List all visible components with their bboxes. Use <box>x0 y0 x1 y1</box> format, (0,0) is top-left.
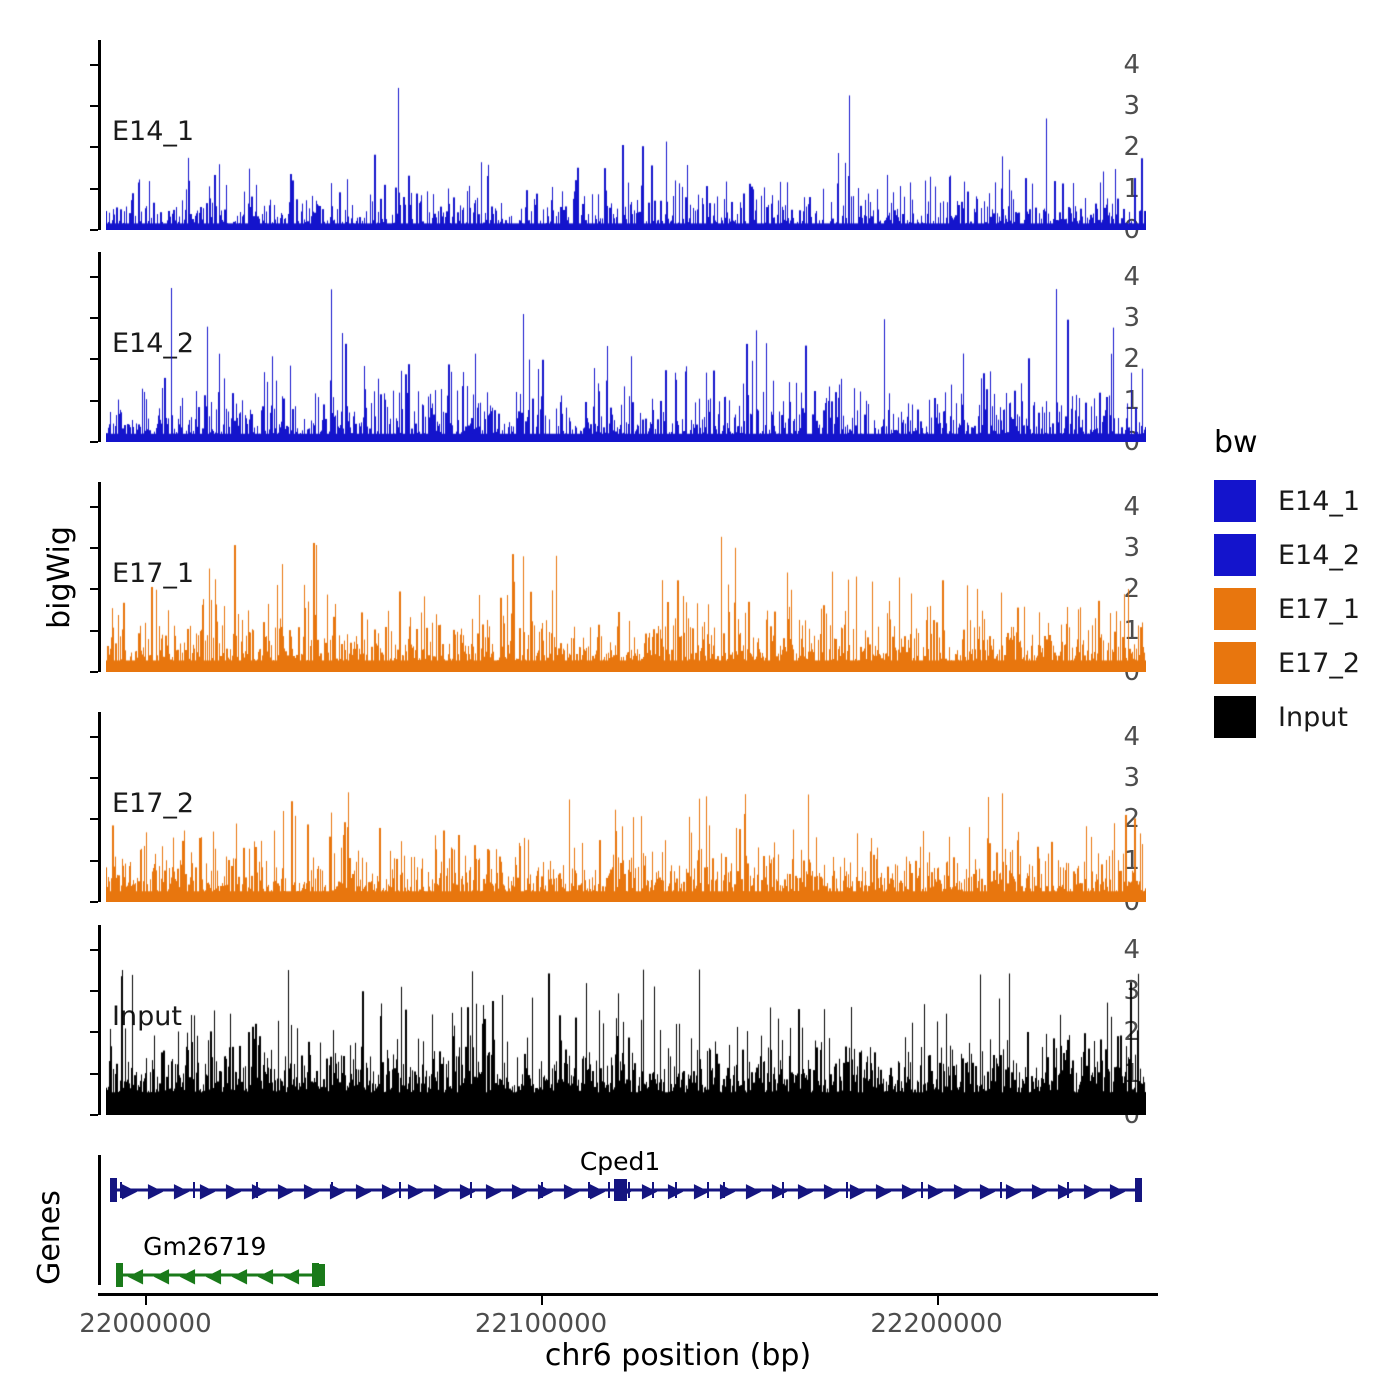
gene-strand-arrow-icon: ◀ <box>128 1265 143 1285</box>
x-tick-label: 22000000 <box>79 1309 211 1339</box>
y-tick <box>90 736 98 738</box>
gene-strand-arrow-icon: ▶ <box>824 1180 839 1200</box>
gene-strand-arrow-icon: ▶ <box>460 1180 475 1200</box>
gene-feature-tick <box>921 1182 923 1198</box>
gene-strand-arrow-icon: ▶ <box>200 1180 215 1200</box>
legend-item-label: Input <box>1278 702 1348 733</box>
legend: bw E14_1E14_2E17_1E17_2Input <box>1210 425 1390 715</box>
legend-color-swatch <box>1214 642 1256 684</box>
gene-feature-tick <box>588 1182 590 1198</box>
x-tick <box>937 1296 939 1305</box>
y-tick <box>90 1073 98 1075</box>
y-tick <box>90 949 98 951</box>
gene-feature-tick <box>675 1182 677 1198</box>
y-tick <box>90 588 98 590</box>
track-panel-e17_2: 01234E17_2 <box>98 712 1158 902</box>
legend-item-input[interactable]: Input <box>1214 696 1348 738</box>
y-axis-line <box>98 925 101 1115</box>
gene-strand-arrow-icon: ▶ <box>1032 1180 1047 1200</box>
y-tick <box>90 441 98 443</box>
y-tick <box>90 671 98 673</box>
legend-color-swatch <box>1214 696 1256 738</box>
gene-strand-arrow-icon: ▶ <box>512 1180 527 1200</box>
track-signal-e14_1 <box>106 40 1146 230</box>
y-tick <box>90 317 98 319</box>
gene-strand-arrow-icon: ▶ <box>590 1180 605 1200</box>
y-axis-line <box>98 252 101 442</box>
gene-feature-tick <box>193 1182 195 1198</box>
gene-feature-tick <box>652 1182 654 1198</box>
gene-strand-arrow-icon: ▶ <box>564 1180 579 1200</box>
y-axis-line <box>98 712 101 902</box>
gene-strand-arrow-icon: ▶ <box>486 1180 501 1200</box>
y-tick <box>90 229 98 231</box>
y-tick <box>90 777 98 779</box>
x-axis-line <box>98 1293 1158 1296</box>
legend-item-label: E14_2 <box>1278 540 1360 571</box>
gene-strand-arrow-icon: ▶ <box>1110 1180 1125 1200</box>
gene-feature-tick <box>782 1182 784 1198</box>
gene-feature-tick <box>846 1182 848 1198</box>
gene-strand-arrow-icon: ▶ <box>356 1180 371 1200</box>
gene-feature-tick <box>1000 1182 1002 1198</box>
legend-color-swatch <box>1214 588 1256 630</box>
gene-strand-arrow-icon: ▶ <box>278 1180 293 1200</box>
y-axis-line <box>98 482 101 672</box>
y-tick <box>90 105 98 107</box>
gene-strand-arrow-icon: ▶ <box>876 1180 891 1200</box>
gene-feature-tick <box>608 1182 610 1198</box>
gene-strand-arrow-icon: ▶ <box>1006 1180 1021 1200</box>
gene-strand-arrow-icon: ▶ <box>434 1180 449 1200</box>
y-tick <box>90 630 98 632</box>
gene-feature-tick <box>723 1182 725 1198</box>
gene-label-gm26719: Gm26719 <box>143 1232 266 1261</box>
x-tick <box>541 1296 543 1305</box>
y-tick <box>90 64 98 66</box>
y-tick <box>90 990 98 992</box>
x-tick <box>145 1296 147 1305</box>
track-panel-e14_2: 01234E14_2 <box>98 252 1158 442</box>
y-tick <box>90 276 98 278</box>
gene-feature-tick <box>120 1182 122 1198</box>
gene-strand-arrow-icon: ▶ <box>1084 1180 1099 1200</box>
gene-strand-arrow-icon: ▶ <box>148 1180 163 1200</box>
gene-exon-block <box>316 1264 325 1286</box>
y-tick <box>90 146 98 148</box>
y-tick <box>90 1031 98 1033</box>
gene-feature-tick <box>1067 1182 1069 1198</box>
genes-panel: ▶▶▶▶▶▶▶▶▶▶▶▶▶▶▶▶▶▶▶▶▶▶▶▶▶▶▶▶▶▶▶▶▶▶▶▶▶▶▶C… <box>98 1155 1158 1285</box>
x-axis-title: chr6 position (bp) <box>398 1338 958 1373</box>
legend-item-label: E17_2 <box>1278 648 1360 679</box>
gene-start-cap <box>110 1178 117 1202</box>
y-tick <box>90 860 98 862</box>
legend-item-e17_2[interactable]: E17_2 <box>1214 642 1360 684</box>
x-tick-label: 22200000 <box>870 1309 1002 1339</box>
gene-feature-tick <box>399 1182 401 1198</box>
gene-feature-tick <box>331 1182 333 1198</box>
gene-strand-arrow-icon: ▶ <box>746 1180 761 1200</box>
y-axis-title: bigWig <box>42 526 77 629</box>
genes-axis-title: Genes <box>32 1190 67 1285</box>
legend-item-e14_2[interactable]: E14_2 <box>1214 534 1360 576</box>
gene-row-cped1[interactable]: ▶▶▶▶▶▶▶▶▶▶▶▶▶▶▶▶▶▶▶▶▶▶▶▶▶▶▶▶▶▶▶▶▶▶▶▶▶▶▶ <box>110 1175 1142 1205</box>
gene-strand-arrow-icon: ▶ <box>980 1180 995 1200</box>
legend-item-label: E14_1 <box>1278 486 1360 517</box>
y-tick <box>90 506 98 508</box>
y-tick <box>90 547 98 549</box>
track-panel-e17_1: 01234E17_1 <box>98 482 1158 672</box>
gene-strand-arrow-icon: ▶ <box>902 1180 917 1200</box>
gene-strand-arrow-icon: ▶ <box>226 1180 241 1200</box>
gene-feature-tick <box>256 1182 258 1198</box>
legend-item-label: E17_1 <box>1278 594 1360 625</box>
gene-strand-arrow-icon: ▶ <box>122 1180 137 1200</box>
gene-strand-arrow-icon: ▶ <box>1058 1180 1073 1200</box>
legend-color-swatch <box>1214 480 1256 522</box>
gene-strand-arrow-icon: ▶ <box>954 1180 969 1200</box>
gene-strand-arrow-icon: ▶ <box>382 1180 397 1200</box>
gene-feature-tick <box>470 1182 472 1198</box>
gene-strand-arrow-icon: ◀ <box>232 1265 247 1285</box>
y-tick <box>90 400 98 402</box>
gene-strand-arrow-icon: ◀ <box>206 1265 221 1285</box>
gene-feature-tick <box>541 1182 543 1198</box>
gene-strand-arrow-icon: ▶ <box>174 1180 189 1200</box>
x-tick-label: 22100000 <box>475 1309 607 1339</box>
track-signal-e17_2 <box>106 712 1146 902</box>
gene-row-gm26719[interactable]: ◀◀◀◀◀◀◀ <box>116 1260 320 1290</box>
gene-feature-tick <box>628 1182 630 1198</box>
gene-strand-arrow-icon: ▶ <box>850 1180 865 1200</box>
legend-color-swatch <box>1214 534 1256 576</box>
gene-strand-arrow-icon: ▶ <box>304 1180 319 1200</box>
gene-strand-arrow-icon: ◀ <box>154 1265 169 1285</box>
gene-strand-arrow-icon: ◀ <box>180 1265 195 1285</box>
gene-strand-arrow-icon: ▶ <box>798 1180 813 1200</box>
gene-strand-arrow-icon: ▶ <box>928 1180 943 1200</box>
gene-start-cap <box>116 1263 123 1287</box>
gene-exon-block <box>618 1179 627 1201</box>
gene-strand-arrow-icon: ◀ <box>258 1265 273 1285</box>
legend-item-e17_1[interactable]: E17_1 <box>1214 588 1360 630</box>
gene-label-cped1: Cped1 <box>580 1147 660 1176</box>
y-tick <box>90 818 98 820</box>
track-panel-e14_1: 01234E14_1 <box>98 40 1158 230</box>
y-tick <box>90 901 98 903</box>
y-tick <box>90 358 98 360</box>
gene-strand-arrow-icon: ▶ <box>772 1180 787 1200</box>
y-axis-line <box>98 40 101 230</box>
y-tick <box>90 1114 98 1116</box>
gene-strand-arrow-icon: ▶ <box>252 1180 267 1200</box>
track-signal-e14_2 <box>106 252 1146 442</box>
gene-feature-tick <box>707 1182 709 1198</box>
gene-end-cap <box>1135 1178 1142 1202</box>
track-signal-input <box>106 925 1146 1115</box>
gene-strand-arrow-icon: ▶ <box>408 1180 423 1200</box>
gene-strand-arrow-icon: ▶ <box>642 1180 657 1200</box>
gene-strand-arrow-icon: ◀ <box>284 1265 299 1285</box>
track-signal-e17_1 <box>106 482 1146 672</box>
y-tick <box>90 188 98 190</box>
track-panel-input: 01234Input <box>98 925 1158 1115</box>
legend-item-e14_1[interactable]: E14_1 <box>1214 480 1360 522</box>
